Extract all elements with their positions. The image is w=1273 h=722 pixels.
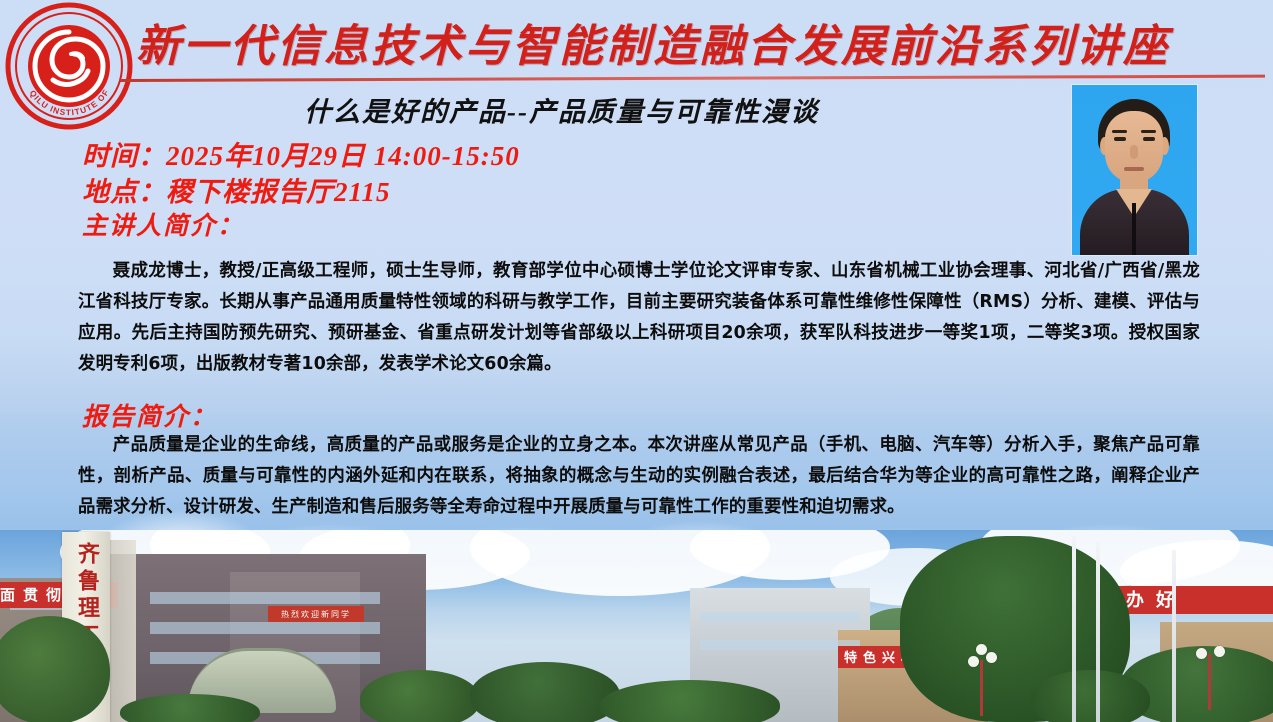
lamp-globe	[986, 652, 997, 663]
lecture-time: 时间：2025年10月29日 14:00-15:50	[82, 134, 520, 173]
window-row	[700, 612, 860, 622]
portrait-eye	[1114, 137, 1126, 141]
campus-banner-small: 热烈欢迎新同学	[268, 606, 364, 622]
tree	[120, 694, 260, 722]
title-divider	[120, 75, 1265, 82]
pylon-secondary	[110, 540, 136, 722]
street-lamp	[1208, 654, 1211, 710]
tree	[600, 680, 780, 722]
page-title: 新一代信息技术与智能制造融合发展前沿系列讲座	[136, 25, 1136, 69]
lecture-poster: 面贯彻党的 特色兴校人 努力办好 热烈欢迎新同学 中国电信 齐鲁理工学院	[0, 0, 1273, 722]
campus-photo: 面贯彻党的 特色兴校人 努力办好 热烈欢迎新同学 中国电信 齐鲁理工学院	[0, 530, 1273, 722]
tree	[470, 662, 620, 722]
lamp-globe	[1196, 648, 1207, 659]
window-row	[150, 592, 380, 604]
portrait-eye	[1143, 137, 1155, 141]
flagpole	[1072, 536, 1076, 722]
abstract-heading: 报告简介：	[82, 397, 217, 433]
lamp-globe	[1214, 646, 1225, 657]
portrait-nose	[1130, 145, 1138, 159]
speaker-bio-heading: 主讲人简介：	[82, 206, 244, 242]
tree	[1030, 670, 1150, 722]
portrait-placket	[1132, 203, 1136, 255]
speaker-bio-body: 聂成龙博士，教授/正高级工程师，硕士生导师，教育部学位中心硕博士学位论文评审专家…	[78, 256, 1200, 380]
lamp-globe	[968, 656, 979, 667]
window-row	[150, 622, 380, 634]
speaker-portrait	[1072, 85, 1197, 255]
lecture-place: 地点：稷下楼报告厅2115	[82, 170, 391, 209]
abstract-body: 产品质量是企业的生命线，高质量的产品或服务是企业的立身之本。本次讲座从常见产品（…	[78, 430, 1200, 523]
flagpole	[1172, 550, 1176, 722]
portrait-eyebrow	[1112, 130, 1127, 133]
tree	[0, 616, 110, 722]
lamp-globe	[976, 644, 987, 655]
portrait-eyebrow	[1141, 130, 1156, 133]
portrait-mouth	[1124, 167, 1144, 171]
tree	[360, 670, 480, 722]
window-row	[700, 640, 860, 650]
street-lamp	[980, 660, 983, 716]
flagpole	[1096, 542, 1100, 722]
